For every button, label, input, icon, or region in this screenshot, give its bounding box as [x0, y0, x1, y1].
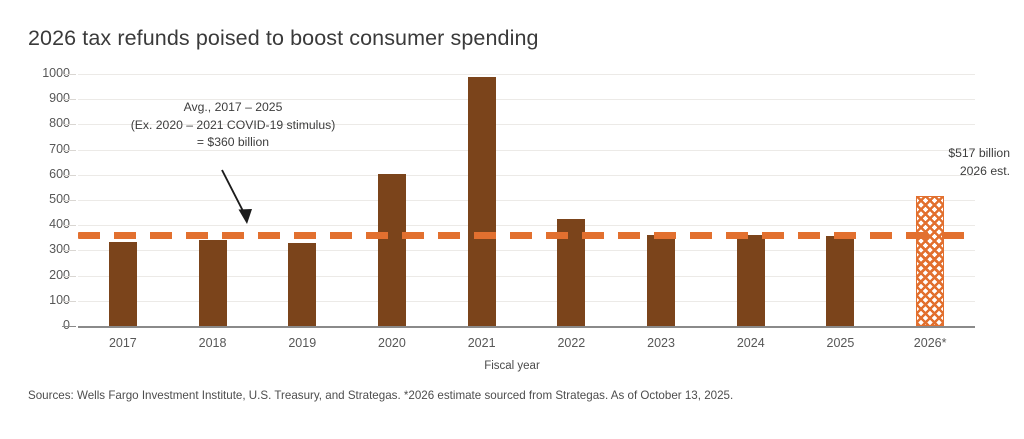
x-axis-tick-label: 2024: [711, 336, 791, 350]
y-axis-tick-mark: [62, 250, 76, 251]
x-axis-tick-label: 2017: [83, 336, 163, 350]
y-axis-tick-mark: [62, 175, 76, 176]
y-axis-tick-mark: [62, 124, 76, 125]
x-axis-tick-label: 2018: [173, 336, 253, 350]
bar-2019: [288, 243, 316, 326]
y-axis-tick-mark: [62, 150, 76, 151]
y-axis-title: $ Billions: [0, 126, 2, 172]
x-axis-tick-label: 2022: [531, 336, 611, 350]
gridline: [78, 175, 975, 176]
average-annotation-line-1: Avg., 2017 – 2025: [118, 99, 348, 117]
x-axis-title: Fiscal year: [0, 360, 1024, 372]
y-axis-tick-mark: [62, 326, 76, 327]
x-axis-tick-label: 2019: [262, 336, 342, 350]
x-axis-tick-label: 2026*: [890, 336, 970, 350]
bar-2026-est: [916, 196, 944, 326]
y-axis-tick-mark: [62, 276, 76, 277]
average-annotation-line-2: (Ex. 2020 – 2021 COVID-19 stimulus): [118, 117, 348, 135]
bar-2018: [199, 240, 227, 326]
x-axis-tick-label: 2020: [352, 336, 432, 350]
y-axis-tick-mark: [62, 200, 76, 201]
bar-2020: [378, 174, 406, 326]
x-axis-tick-label: 2021: [442, 336, 522, 350]
average-annotation-line-3: = $360 billion: [118, 134, 348, 152]
y-axis-tick-mark: [62, 74, 76, 75]
y-axis-tick-mark: [62, 99, 76, 100]
estimate-annotation: $517 billion 2026 est.: [860, 145, 1010, 180]
y-axis-tick-mark: [62, 301, 76, 302]
gridline: [78, 200, 975, 201]
source-footnote: Sources: Wells Fargo Investment Institut…: [28, 389, 733, 402]
estimate-annotation-line-1: $517 billion: [860, 145, 1010, 163]
y-axis-tick-mark: [62, 225, 76, 226]
chart-title: 2026 tax refunds poised to boost consume…: [28, 26, 539, 51]
average-annotation: Avg., 2017 – 2025 (Ex. 2020 – 2021 COVID…: [118, 99, 348, 152]
bar-2025: [826, 236, 854, 326]
average-reference-line: [78, 232, 975, 239]
annotation-arrow-icon: [218, 166, 264, 228]
chart-container: 2026 tax refunds poised to boost consume…: [0, 0, 1024, 439]
x-axis-tick-label: 2023: [621, 336, 701, 350]
estimate-annotation-line-2: 2026 est.: [860, 163, 1010, 181]
bar-2017: [109, 242, 137, 326]
bar-2023: [647, 235, 675, 326]
bar-2021: [468, 77, 496, 326]
gridline: [78, 225, 975, 226]
x-axis-baseline: [78, 326, 975, 328]
gridline: [78, 74, 975, 75]
x-axis-tick-label: 2025: [800, 336, 880, 350]
bar-2024: [737, 235, 765, 326]
